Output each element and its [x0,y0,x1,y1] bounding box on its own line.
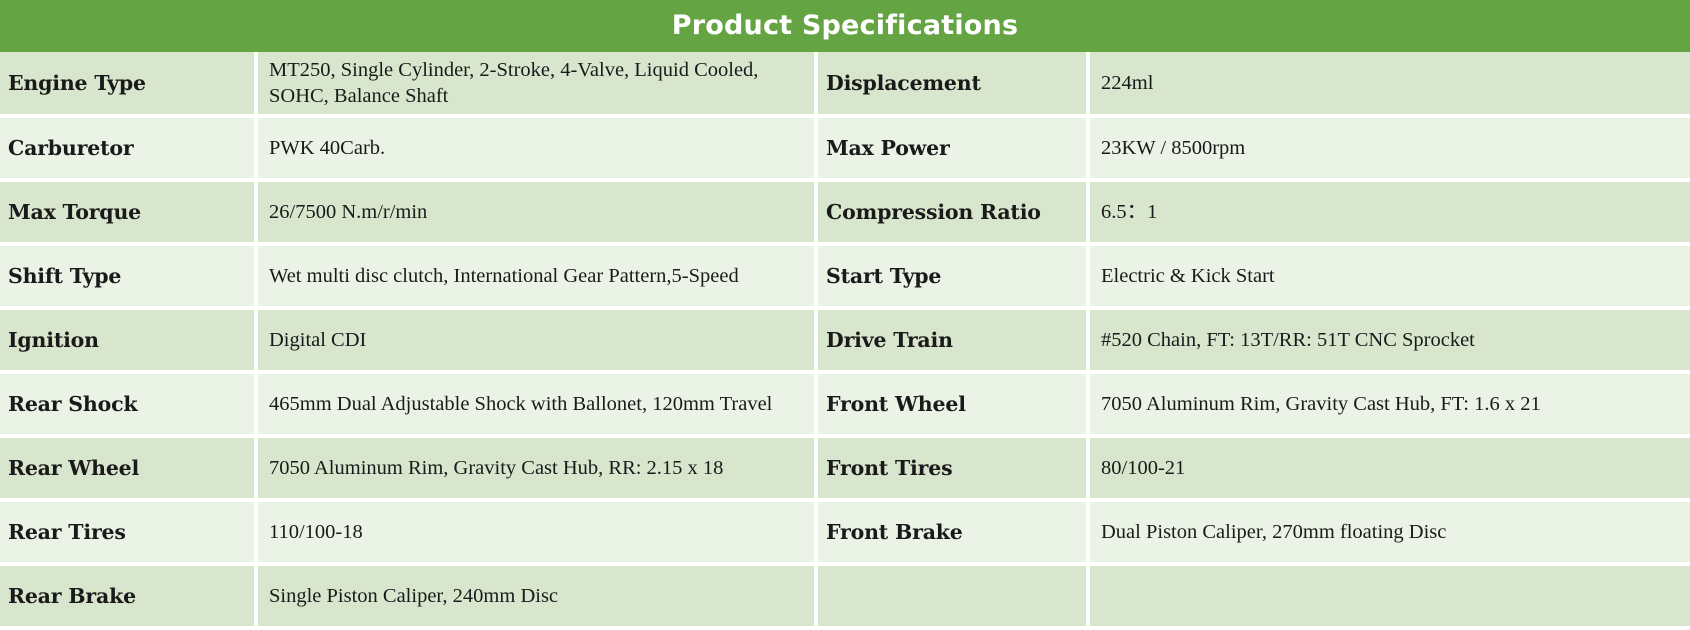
spec-label: Max Power [818,118,1090,182]
table-row: Engine TypeMT250, Single Cylinder, 2-Str… [0,52,1690,118]
spec-label: Start Type [818,246,1090,310]
spec-value: 7050 Aluminum Rim, Gravity Cast Hub, FT:… [1090,374,1690,438]
page-title: Product Specifications [0,0,1690,52]
table-row: Max Torque26/7500 N.m/r/minCompression R… [0,182,1690,246]
spec-value: 110/100-18 [258,502,818,566]
spec-label: Engine Type [0,52,258,118]
spec-label: Drive Train [818,310,1090,374]
spec-value: Electric & Kick Start [1090,246,1690,310]
spec-value: Dual Piston Caliper, 270mm floating Disc [1090,502,1690,566]
spec-label: Shift Type [0,246,258,310]
spec-label: Max Torque [0,182,258,246]
spec-value: PWK 40Carb. [258,118,818,182]
spec-value: #520 Chain, FT: 13T/RR: 51T CNC Sprocket [1090,310,1690,374]
spec-label: Front Brake [818,502,1090,566]
spec-value: 6.5：1 [1090,182,1690,246]
table-header-row: Product Specifications [0,0,1690,52]
spec-label: Ignition [0,310,258,374]
spec-label: Rear Wheel [0,438,258,502]
spec-value: MT250, Single Cylinder, 2-Stroke, 4-Valv… [258,52,818,118]
table-row: Rear BrakeSingle Piston Caliper, 240mm D… [0,566,1690,630]
spec-label: Front Wheel [818,374,1090,438]
spec-value: 7050 Aluminum Rim, Gravity Cast Hub, RR:… [258,438,818,502]
spec-value: 26/7500 N.m/r/min [258,182,818,246]
header-title-cell: Product Specifications [0,0,1690,52]
spec-label: Front Tires [818,438,1090,502]
empty-cell [818,566,1090,630]
spec-label: Rear Brake [0,566,258,630]
spec-value: 224ml [1090,52,1690,118]
spec-label: Carburetor [0,118,258,182]
spec-label: Displacement [818,52,1090,118]
table-row: IgnitionDigital CDIDrive Train#520 Chain… [0,310,1690,374]
table-row: Shift TypeWet multi disc clutch, Interna… [0,246,1690,310]
table-row: Rear Wheel7050 Aluminum Rim, Gravity Cas… [0,438,1690,502]
spec-label: Rear Shock [0,374,258,438]
spec-value: Wet multi disc clutch, International Gea… [258,246,818,310]
spec-value: 23KW / 8500rpm [1090,118,1690,182]
spec-value: 465mm Dual Adjustable Shock with Ballone… [258,374,818,438]
spec-value: Digital CDI [258,310,818,374]
table-row: CarburetorPWK 40Carb.Max Power23KW / 850… [0,118,1690,182]
empty-cell [1090,566,1690,630]
table-row: Rear Shock465mm Dual Adjustable Shock wi… [0,374,1690,438]
product-specifications-table: Product Specifications Engine TypeMT250,… [0,0,1690,630]
spec-label: Rear Tires [0,502,258,566]
table-row: Rear Tires110/100-18Front BrakeDual Pist… [0,502,1690,566]
spec-value: 80/100-21 [1090,438,1690,502]
spec-value: Single Piston Caliper, 240mm Disc [258,566,818,630]
spec-label: Compression Ratio [818,182,1090,246]
